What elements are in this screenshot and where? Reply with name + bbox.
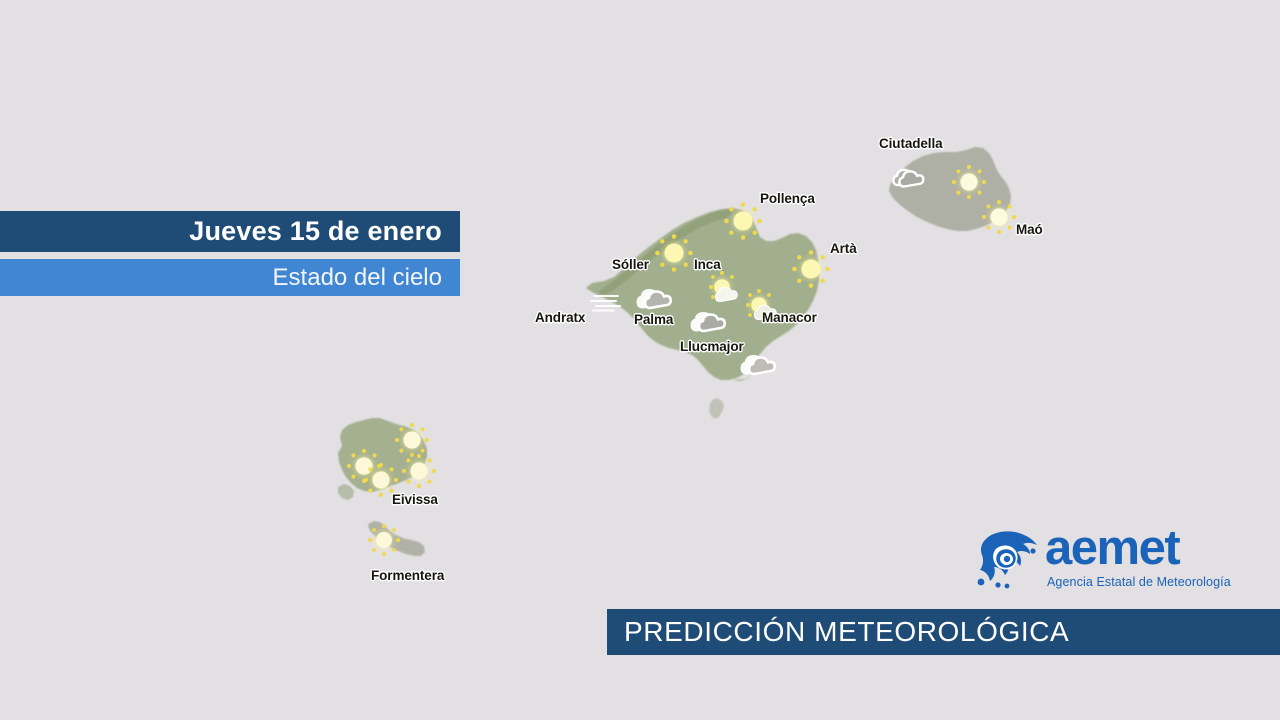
aemet-tagline: Agencia Estatal de Meteorología [1047,575,1231,589]
city-label-pollenca: Pollença [760,191,815,206]
city-label-soller: Sóller [612,257,649,272]
city-label-palma: Palma [634,312,673,327]
sun-icon [790,248,832,295]
aemet-wordmark: aemet [1045,524,1179,573]
sun-icon [366,522,402,563]
aemet-logo: aemet Agencia Estatal de Meteorología [975,528,1220,590]
sun-icon [653,232,695,279]
cloud-outline-icon [890,163,928,196]
city-label-mao: Maó [1016,222,1043,237]
city-label-ciutadella: Ciutadella [879,136,943,151]
forecast-day-bar: Jueves 15 de enero [0,211,460,252]
city-label-llucmajor: Llucmajor [680,339,744,354]
city-label-formentera: Formentera [371,568,444,583]
forecast-subtitle-bar: Estado del cielo [0,259,460,296]
aemet-spiral-icon [975,528,1041,590]
bottom-banner: PREDICCIÓN METEOROLÓGICA [607,609,1280,655]
sun-icon [400,452,438,495]
city-label-inca: Inca [694,257,721,272]
city-label-manacor: Manacor [762,310,817,325]
title-bar-divider [0,252,460,259]
haze-icon [588,290,624,319]
city-label-andratx: Andratx [535,310,585,325]
sun-icon [722,200,764,247]
city-label-eivissa: Eivissa [392,492,438,507]
weather-forecast-screen: Pollença Sóller Inca Artà Manacor Andrat… [0,0,1280,720]
sun-icon [980,198,1018,241]
city-label-arta: Artà [830,241,857,256]
forecast-title-block: Jueves 15 de enero Estado del cielo [0,211,460,296]
bottom-banner-label: PREDICCIÓN METEOROLÓGICA [607,616,1069,648]
island-cabrera [709,398,724,419]
cloud-icon [688,306,730,341]
cloud-icon [738,349,780,384]
